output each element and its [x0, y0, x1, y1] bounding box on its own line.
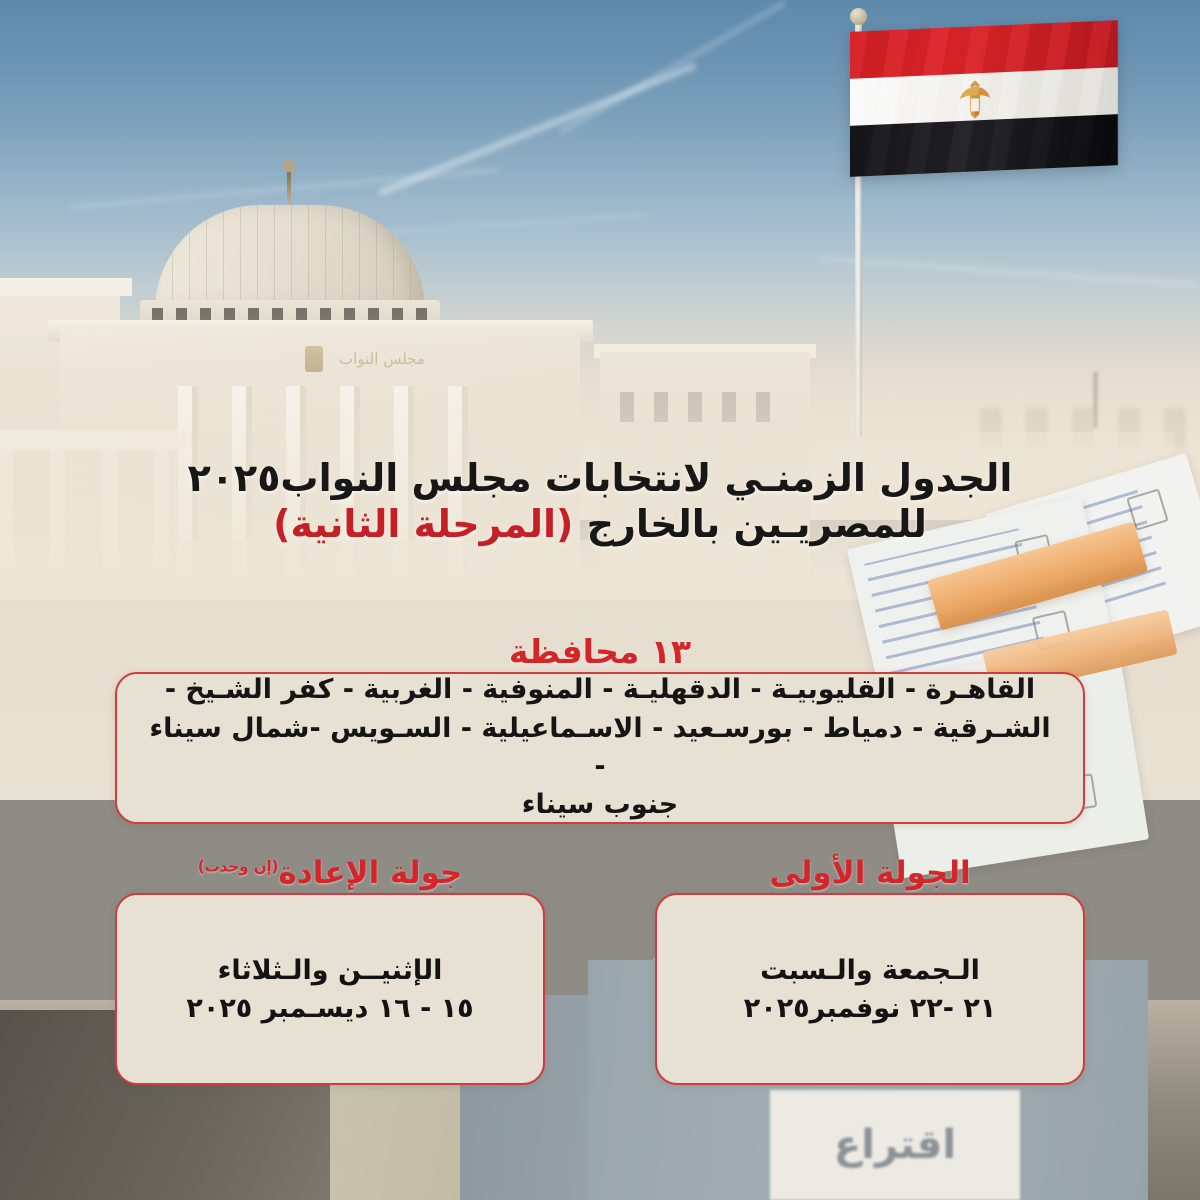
- governorates-line-3: جنوب سيناء: [143, 786, 1057, 824]
- title-line-2: للمصريـين بالخارج (المرحلة الثانية): [0, 501, 1200, 547]
- runoff-round-note: (إن وجدت): [198, 858, 279, 876]
- governorates-line-2: الشـرقية - دمياط - بورسـعيد - الاسـماعيل…: [143, 710, 1057, 787]
- runoff-round-heading-text: جولة الإعادة: [279, 855, 463, 891]
- runoff-round-days: الإثنيــن والـثلاثاء: [218, 955, 443, 986]
- page-title: الجدول الزمنـي لانتخابات مجلس النواب٢٠٢٥…: [0, 455, 1200, 548]
- poster-content: الجدول الزمنـي لانتخابات مجلس النواب٢٠٢٥…: [0, 0, 1200, 1200]
- governorates-card: القاهـرة - القليوبيـة - الدقهليـة - المن…: [115, 672, 1085, 824]
- title-line-2-main: للمصريـين بالخارج: [573, 502, 927, 546]
- runoff-round-dates: ١٥ - ١٦ ديسـمبر ٢٠٢٥: [186, 993, 473, 1024]
- title-line-1: الجدول الزمنـي لانتخابات مجلس النواب٢٠٢٥: [0, 455, 1200, 501]
- first-round-card: الـجمعة والـسبت ٢١ -٢٢ نوفمبر٢٠٢٥: [655, 893, 1085, 1085]
- governorates-list: القاهـرة - القليوبيـة - الدقهليـة - المن…: [143, 671, 1057, 824]
- governorates-heading: ١٣ محافظة: [0, 632, 1200, 671]
- governorates-line-1: القاهـرة - القليوبيـة - الدقهليـة - المن…: [143, 671, 1057, 709]
- first-round-dates: ٢١ -٢٢ نوفمبر٢٠٢٥: [744, 993, 997, 1024]
- election-timeline-poster: مجلس النواب: [0, 0, 1200, 1200]
- first-round-days: الـجمعة والـسبت: [760, 955, 980, 986]
- runoff-round-heading: جولة الإعادة(إن وجدت): [115, 855, 545, 891]
- governorates-heading-text: ١٣ محافظة: [509, 632, 691, 676]
- first-round-heading: الجولة الأولى: [655, 855, 1085, 891]
- title-phase-label: (المرحلة الثانية): [273, 502, 573, 546]
- runoff-round-card: الإثنيــن والـثلاثاء ١٥ - ١٦ ديسـمبر ٢٠٢…: [115, 893, 545, 1085]
- first-round-heading-text: الجولة الأولى: [769, 855, 970, 891]
